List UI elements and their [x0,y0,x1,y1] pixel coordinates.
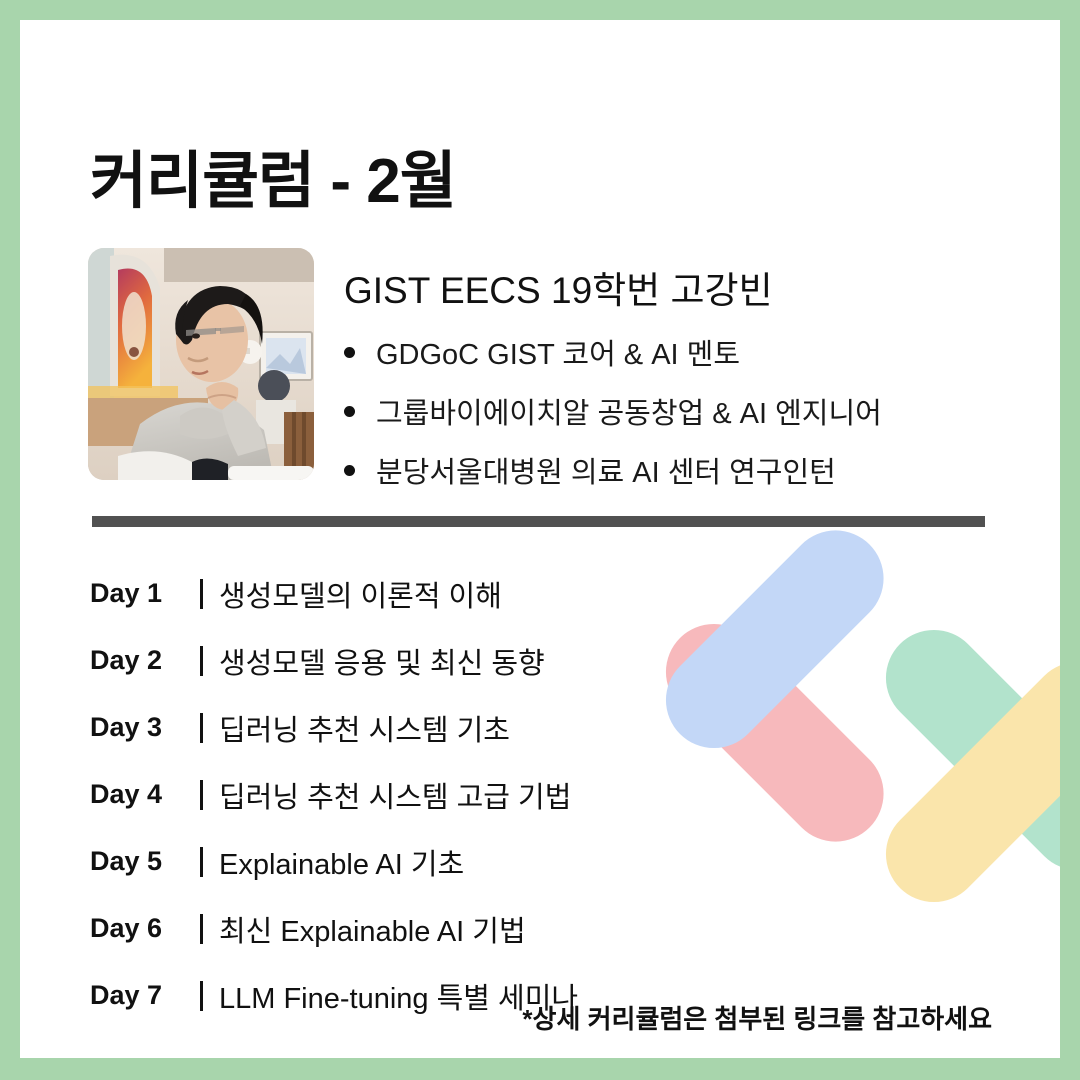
bullet-dot-icon [344,465,355,476]
list-item: 분당서울대병원 의료 AI 센터 연구인턴 [344,449,1034,491]
schedule-separator [200,713,203,743]
table-row: Day 1 생성모델의 이론적 이해 [90,560,990,627]
schedule-separator [200,646,203,676]
schedule-topic-label: Explainable AI 기초 [219,841,464,883]
profile-bullet-label: GDGoC GIST 코어 & AI 멘토 [376,331,740,373]
bullet-dot-icon [344,406,355,417]
profile-details: GIST EECS 19학번 고강빈 GDGoC GIST 코어 & AI 멘토… [344,260,1034,491]
schedule-day-label: Day 1 [90,578,200,609]
schedule-day-label: Day 2 [90,645,200,676]
profile-photo [88,248,314,480]
schedule-separator [200,579,203,609]
profile-bullet-label: 그룹바이에이치알 공동창업 & AI 엔지니어 [376,390,882,432]
schedule-separator [200,914,203,944]
schedule-topic-label: 딥러닝 추천 시스템 기초 [219,707,510,749]
schedule-day-label: Day 7 [90,980,200,1011]
bullet-dot-icon [344,347,355,358]
schedule-topic-label: 생성모델의 이론적 이해 [219,573,502,615]
table-row: Day 4 딥러닝 추천 시스템 고급 기법 [90,761,990,828]
schedule-day-label: Day 3 [90,712,200,743]
schedule-topic-label: 딥러닝 추천 시스템 고급 기법 [219,774,571,816]
schedule-topic-label: 최신 Explainable AI 기법 [219,908,526,950]
table-row: Day 2 생성모델 응용 및 최신 동향 [90,627,990,694]
table-row: Day 3 딥러닝 추천 시스템 기초 [90,694,990,761]
profile-name: GIST EECS 19학번 고강빈 [344,260,1034,314]
schedule-separator [200,981,203,1011]
table-row: Day 5 Explainable AI 기초 [90,828,990,895]
page-title: 커리큘럼 - 2월 [90,130,456,220]
profile-bullet-label: 분당서울대병원 의료 AI 센터 연구인턴 [376,449,836,491]
section-divider [92,516,985,527]
poster-content: 커리큘럼 - 2월 [20,20,1060,1058]
list-item: GDGoC GIST 코어 & AI 멘토 [344,331,1034,373]
footnote: *상세 커리큘럼은 첨부된 링크를 참고하세요 [522,999,992,1036]
schedule-list: Day 1 생성모델의 이론적 이해 Day 2 생성모델 응용 및 최신 동향… [90,560,990,1029]
schedule-separator [200,780,203,810]
schedule-day-label: Day 6 [90,913,200,944]
schedule-day-label: Day 4 [90,779,200,810]
poster-root: 커리큘럼 - 2월 [0,0,1080,1080]
schedule-day-label: Day 5 [90,846,200,877]
schedule-separator [200,847,203,877]
table-row: Day 6 최신 Explainable AI 기법 [90,895,990,962]
poster-card: 커리큘럼 - 2월 [20,20,1060,1058]
schedule-topic-label: 생성모델 응용 및 최신 동향 [219,640,545,682]
list-item: 그룹바이에이치알 공동창업 & AI 엔지니어 [344,390,1034,432]
